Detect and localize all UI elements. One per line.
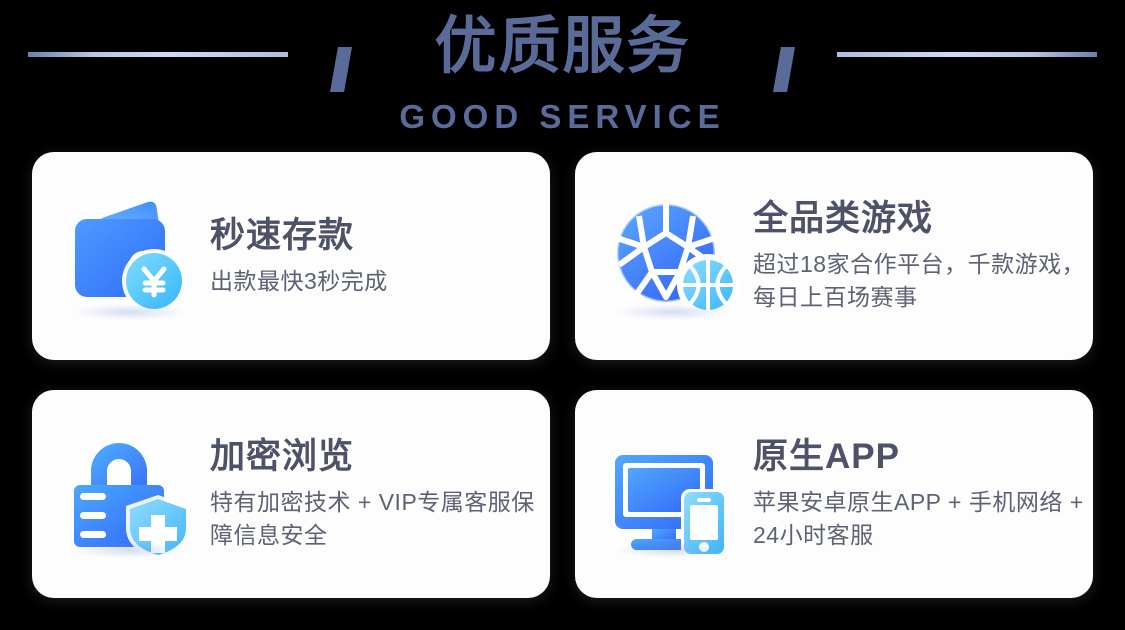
card-title: 秒速存款 [210,215,388,257]
card-title: 全品类游戏 [753,198,1093,240]
monitor-phone-icon [609,427,741,562]
card-description: 特有加密技术 + VIP专属客服保障信息安全 [210,486,550,552]
lock-shield-icon [66,427,198,562]
card-text: 原生APP 苹果安卓原生APP + 手机网络 + 24小时客服 [753,436,1093,552]
feature-card-instant-deposit[interactable]: 秒速存款 出款最快3秒完成 [32,152,550,360]
monitor-phone-svg [609,427,741,559]
feature-card-all-games[interactable]: 全品类游戏 超过18家合作平台，千款游戏，每日上百场赛事 [575,152,1093,360]
icon-shadow [617,542,729,558]
card-text: 秒速存款 出款最快3秒完成 [210,215,388,298]
page-title: 优质服务 [0,8,1125,86]
icon-shadow [74,304,186,320]
card-title: 加密浏览 [210,436,550,478]
icon-shadow [74,542,186,558]
card-description: 苹果安卓原生APP + 手机网络 + 24小时客服 [753,486,1093,552]
card-text: 全品类游戏 超过18家合作平台，千款游戏，每日上百场赛事 [753,198,1093,314]
feature-card-encrypted-browsing[interactable]: 加密浏览 特有加密技术 + VIP专属客服保障信息安全 [32,390,550,598]
wallet-yuan-svg [66,189,198,321]
card-title: 原生APP [753,436,1093,478]
page-header: 优质服务 GOOD SERVICE [0,0,1125,150]
soccer-basketball-icon [609,189,741,324]
feature-card-grid: 秒速存款 出款最快3秒完成 [32,152,1093,598]
feature-card-native-app[interactable]: 原生APP 苹果安卓原生APP + 手机网络 + 24小时客服 [575,390,1093,598]
soccer-basketball-svg [609,189,741,321]
page-subtitle: GOOD SERVICE [0,98,1125,136]
card-description: 超过18家合作平台，千款游戏，每日上百场赛事 [753,248,1093,314]
card-text: 加密浏览 特有加密技术 + VIP专属客服保障信息安全 [210,436,550,552]
wallet-yuan-icon [66,189,198,324]
lock-shield-svg [66,427,198,559]
card-description: 出款最快3秒完成 [210,265,388,298]
icon-shadow [617,304,729,320]
